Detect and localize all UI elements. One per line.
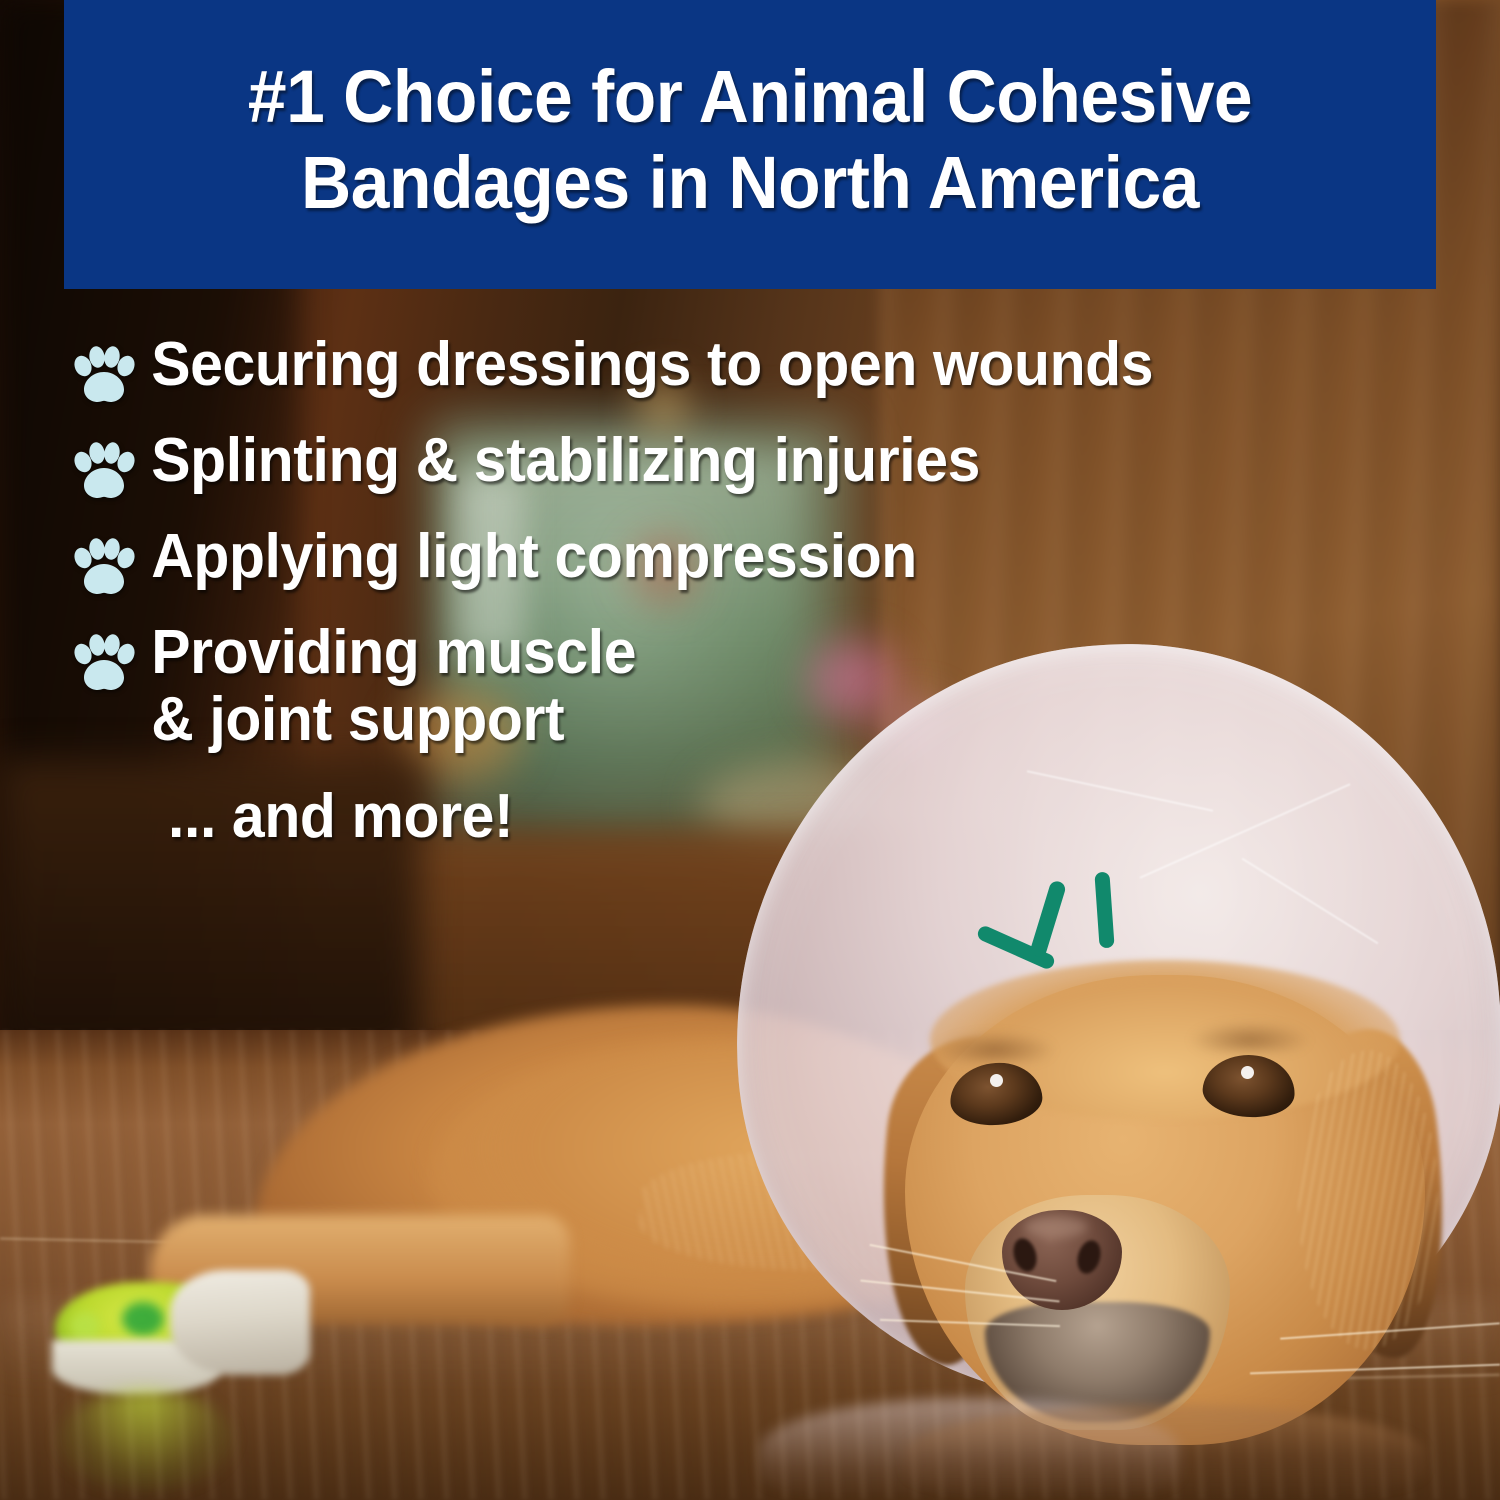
paw-print-icon <box>72 538 136 600</box>
dog-eye-highlight <box>990 1074 1003 1087</box>
green-dog-toy-spot <box>70 1312 100 1340</box>
list-item-label: Securing dressings to open wounds <box>136 332 1153 399</box>
page-title: #1 Choice for Animal Cohesive Bandages i… <box>133 54 1366 226</box>
list-item: Applying light compression <box>72 524 1472 600</box>
benefits-list: Securing dressings to open wounds Splint… <box>72 332 1472 851</box>
bandaged-paw <box>170 1270 310 1375</box>
list-item: Providing muscle & joint support <box>72 620 1472 754</box>
paw-print-icon <box>72 346 136 408</box>
list-item-label: Splinting & stabilizing injuries <box>136 428 980 495</box>
dog-nose-highlight <box>1024 1216 1088 1238</box>
green-dog-toy-spot <box>122 1302 164 1336</box>
dog-brow-left <box>935 1032 1055 1062</box>
headline-banner: #1 Choice for Animal Cohesive Bandages i… <box>64 0 1436 289</box>
list-item-label: Providing muscle & joint support <box>136 620 636 754</box>
list-item: Splinting & stabilizing injuries <box>72 428 1472 504</box>
paw-print-icon <box>72 634 136 696</box>
list-item-label: Applying light compression <box>136 524 917 591</box>
list-item: Securing dressings to open wounds <box>72 332 1472 408</box>
dog-head-floor-reflection <box>905 1405 1425 1500</box>
dog-ear-fur-texture <box>1298 1050 1438 1350</box>
dog-eye-highlight <box>1241 1066 1254 1079</box>
green-dog-toy-reflection <box>58 1390 233 1490</box>
paw-print-icon <box>72 442 136 504</box>
dog-brow-right <box>1190 1022 1310 1052</box>
and-more-label: ... and more! <box>168 784 1407 851</box>
